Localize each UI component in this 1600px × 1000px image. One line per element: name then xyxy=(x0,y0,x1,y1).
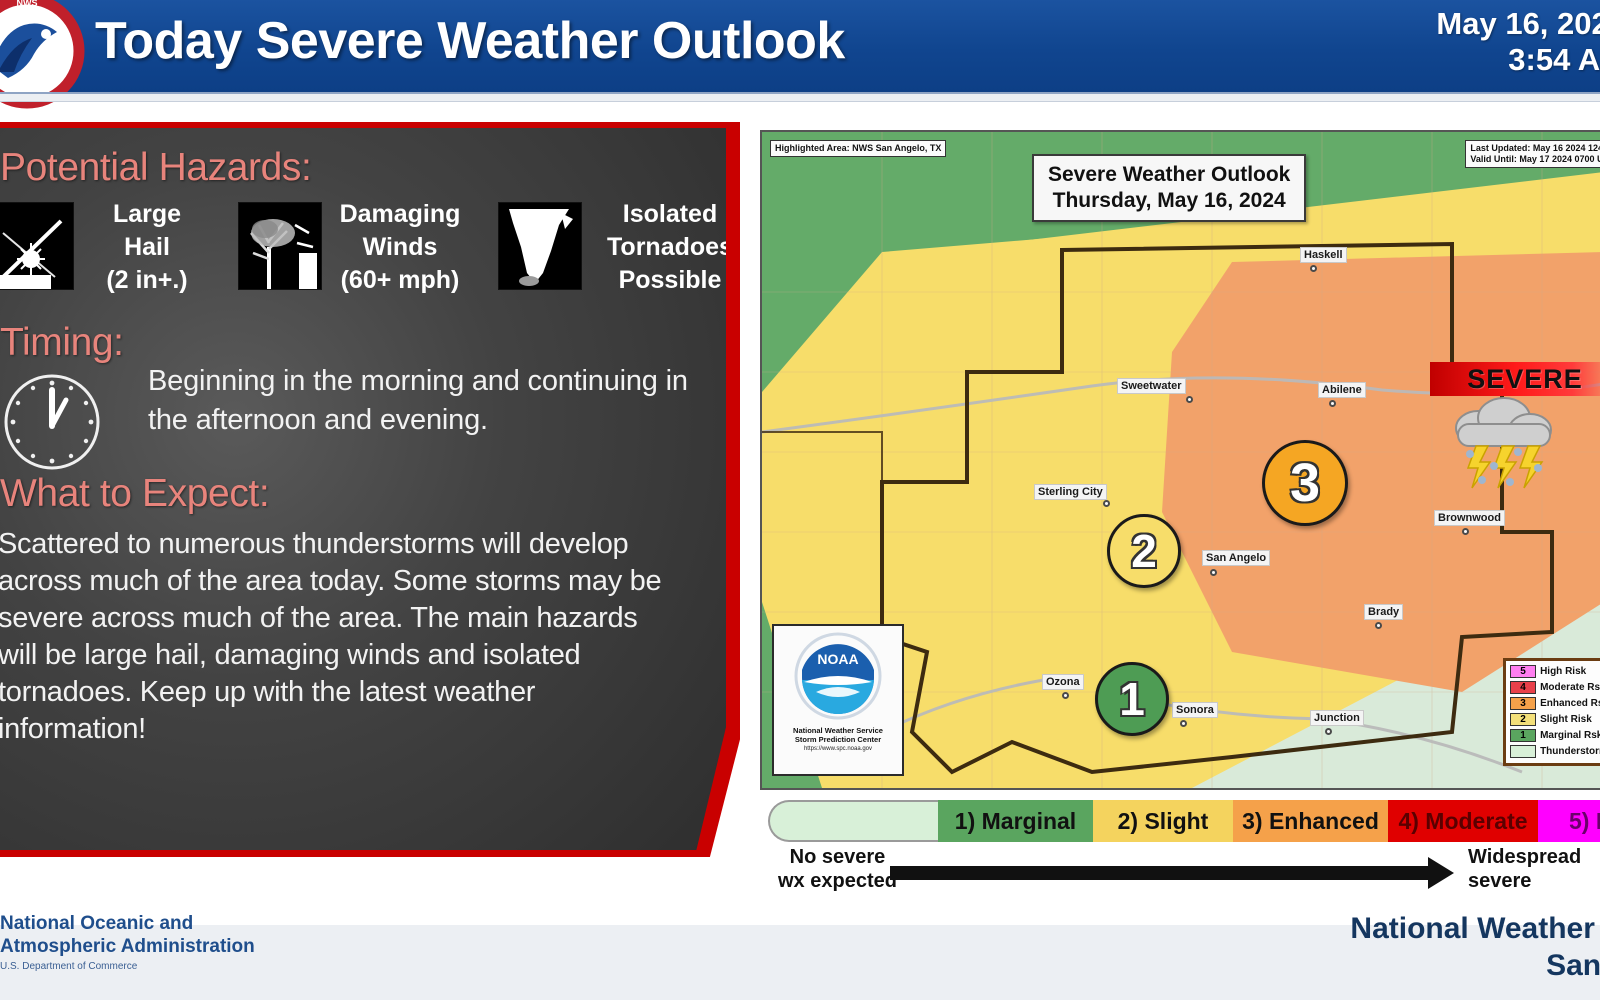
city-dot xyxy=(1375,622,1382,629)
legend-swatch: 4 xyxy=(1510,681,1536,694)
legend-label: Marginal Rsk xyxy=(1540,730,1600,741)
city-label: Junction xyxy=(1310,710,1364,726)
expect-text: Scattered to numerous thunderstorms will… xyxy=(0,526,678,748)
map-title-box: Severe Weather Outlook Thursday, May 16,… xyxy=(1032,154,1306,222)
hazard-label-hail: Large Hail (2 in+.) xyxy=(82,198,212,297)
scale-segment-enhanced: 3) Enhanced xyxy=(1233,800,1388,842)
legend-swatch: 1 xyxy=(1510,729,1536,742)
legend-label: Thunderstorm xyxy=(1540,746,1600,757)
city-label: Brady xyxy=(1364,604,1403,620)
tornado-icon xyxy=(498,202,582,290)
legend-swatch xyxy=(1510,745,1536,758)
city-label: Sonora xyxy=(1172,702,1218,718)
legend-label: Slight Risk xyxy=(1540,714,1592,725)
legend-label: High Risk xyxy=(1540,666,1586,677)
hazards-panel-inner: Potential Hazards: xyxy=(0,128,726,850)
noaa-logo: NOAA xyxy=(786,630,890,726)
hazard-label-tornado: Isolated Tornadoes Possible xyxy=(590,198,750,297)
city-dot xyxy=(1180,720,1187,727)
city-label: Abilene xyxy=(1318,382,1366,398)
outlook-graphic: NWS Today Severe Weather Outlook May 16,… xyxy=(0,0,1600,1000)
city-dot xyxy=(1329,400,1336,407)
clock-icon xyxy=(0,370,104,474)
city-dot xyxy=(1325,728,1332,735)
legend-swatch: 5 xyxy=(1510,665,1536,678)
spc-url: https://www.spc.noaa.gov xyxy=(804,746,872,752)
risk-marker-1: 1 xyxy=(1095,662,1169,736)
wind-icon xyxy=(238,202,322,290)
legend-row: 1 Marginal Rsk xyxy=(1510,728,1600,743)
noaa-footer-line2: Atmospheric Administration xyxy=(0,935,255,958)
city-label: Brownwood xyxy=(1434,510,1505,526)
hazard-item-wind: Damaging Winds (60+ mph) xyxy=(238,196,488,306)
svg-text:NOAA: NOAA xyxy=(817,651,858,667)
office-footer-line1: National Weather Service xyxy=(1350,910,1600,947)
legend-swatch: 2 xyxy=(1510,713,1536,726)
highlighted-area-tag: Highlighted Area: NWS San Angelo, TX xyxy=(770,140,946,157)
spc-caption-line1: National Weather Service xyxy=(793,726,883,735)
scale-segment-moderate: 4) Moderate xyxy=(1388,800,1538,842)
outlook-map[interactable]: Highlighted Area: NWS San Angelo, TX Las… xyxy=(760,130,1600,790)
spc-caption-line2: Storm Prediction Center xyxy=(795,735,881,744)
timing-row: Beginning in the morning and continuing … xyxy=(0,366,700,486)
valid-until-text: Valid Until: May 17 2024 0700 UTC xyxy=(1470,154,1600,165)
thunderstorm-icon xyxy=(1442,384,1562,504)
legend-swatch: 3 xyxy=(1510,697,1536,710)
hazard-item-hail: Large Hail (2 in+.) xyxy=(0,196,230,306)
scale-arrow-head xyxy=(1428,857,1454,889)
spc-logo-box: NOAA National Weather Service Storm Pred… xyxy=(772,624,904,776)
timing-text: Beginning in the morning and continuing … xyxy=(148,362,708,440)
city-dot xyxy=(1103,500,1110,507)
city-label: Ozona xyxy=(1042,674,1084,690)
last-updated-text: Last Updated: May 16 2024 1240 UTC xyxy=(1470,143,1600,154)
scale-arrow-line xyxy=(890,866,1430,880)
map-title-line2: Thursday, May 16, 2024 xyxy=(1048,188,1290,214)
hazard-item-tornado: Isolated Tornadoes Possible xyxy=(498,196,748,306)
legend-label: Moderate Rsk xyxy=(1540,682,1600,693)
scale-segment-slight: 2) Slight xyxy=(1093,800,1233,842)
timing-heading: Timing: xyxy=(0,321,124,365)
risk-marker-2: 2 xyxy=(1107,514,1181,588)
header-divider xyxy=(0,92,1600,102)
scale-segment-none xyxy=(768,800,938,842)
city-label: Sweetwater xyxy=(1117,378,1186,394)
legend-label: Enhanced Rsk xyxy=(1540,698,1600,709)
city-label: San Angelo xyxy=(1202,550,1270,566)
header-datetime: May 16, 2024 3:54 AM xyxy=(1436,6,1600,78)
last-updated-tag: Last Updated: May 16 2024 1240 UTC Valid… xyxy=(1465,140,1600,168)
legend-row: 5 High Risk xyxy=(1510,664,1600,679)
city-dot xyxy=(1210,569,1217,576)
scale-caption-left: No severe wx expected xyxy=(778,845,897,893)
risk-legend: 5 High Risk 4 Moderate Rsk 3 Enhanced Rs… xyxy=(1503,658,1600,766)
map-title-line1: Severe Weather Outlook xyxy=(1048,162,1290,188)
header-date: May 16, 2024 xyxy=(1436,6,1600,42)
city-dot xyxy=(1462,528,1469,535)
expect-heading: What to Expect: xyxy=(0,472,269,516)
scale-segment-high: 5) High xyxy=(1538,800,1600,842)
city-dot xyxy=(1062,692,1069,699)
noaa-footer-line3: U.S. Department of Commerce xyxy=(0,961,255,972)
city-dot xyxy=(1310,265,1317,272)
city-label: Sterling City xyxy=(1034,484,1107,500)
page-title: Today Severe Weather Outlook xyxy=(95,11,845,71)
office-footer-line2: San Angelo xyxy=(1350,947,1600,984)
header-bar: NWS Today Severe Weather Outlook May 16,… xyxy=(0,0,1600,92)
scale-segment-marginal: 1) Marginal xyxy=(938,800,1093,842)
hazard-label-wind: Damaging Winds (60+ mph) xyxy=(330,198,470,297)
scale-caption-right: Widespread severe xyxy=(1468,845,1581,893)
legend-row: 2 Slight Risk xyxy=(1510,712,1600,727)
legend-row: Thunderstorm xyxy=(1510,744,1600,759)
legend-row: 3 Enhanced Rsk xyxy=(1510,696,1600,711)
risk-scale-bar: 1) Marginal 2) Slight 3) Enhanced 4) Mod… xyxy=(768,800,1600,842)
city-label: Haskell xyxy=(1300,247,1347,263)
noaa-footer: National Oceanic and Atmospheric Adminis… xyxy=(0,912,255,972)
hazards-panel: Potential Hazards: xyxy=(0,122,740,857)
office-footer: National Weather Service San Angelo xyxy=(1350,910,1600,984)
legend-row: 4 Moderate Rsk xyxy=(1510,680,1600,695)
header-time: 3:54 AM xyxy=(1436,42,1600,78)
hail-icon xyxy=(0,202,74,290)
risk-scale: 1) Marginal 2) Slight 3) Enhanced 4) Mod… xyxy=(760,800,1600,845)
risk-marker-3: 3 xyxy=(1262,440,1348,526)
city-dot xyxy=(1186,396,1193,403)
svg-text:NWS: NWS xyxy=(17,0,38,8)
hazard-icons-row: Large Hail (2 in+.) xyxy=(0,196,730,306)
hazards-heading: Potential Hazards: xyxy=(0,146,311,190)
noaa-footer-line1: National Oceanic and xyxy=(0,912,255,935)
